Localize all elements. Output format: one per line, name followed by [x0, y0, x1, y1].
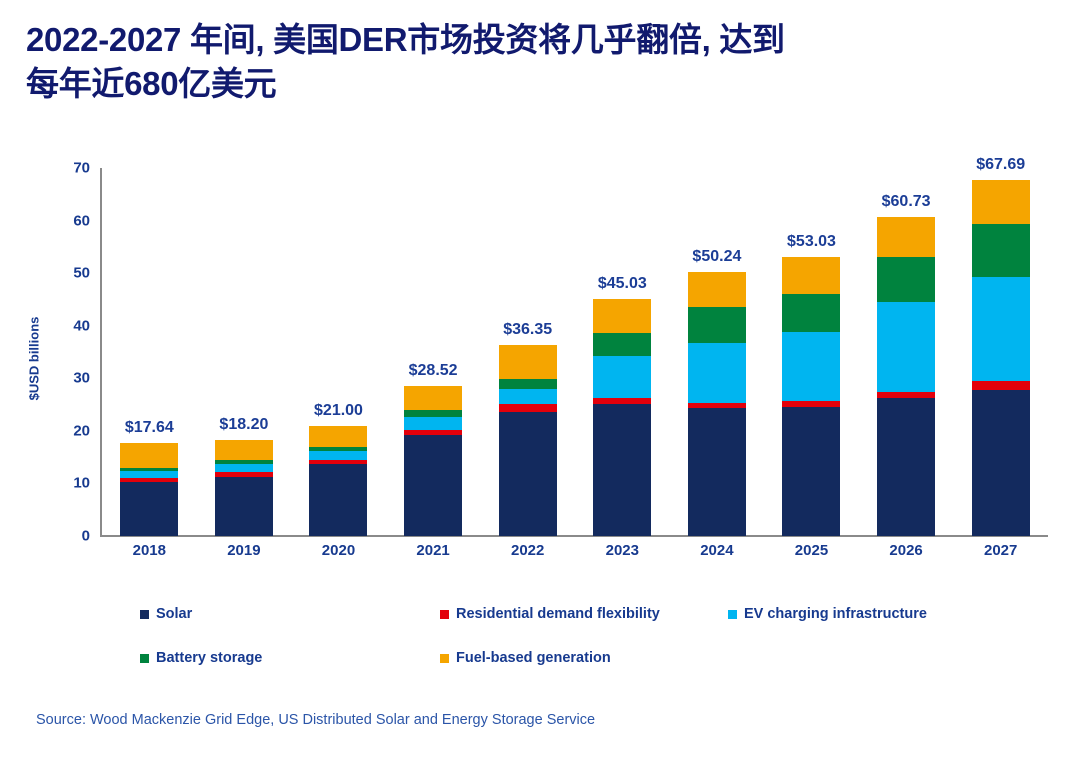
bar-2026[interactable]: [877, 217, 935, 536]
bar-group-2019[interactable]: $18.20: [197, 168, 292, 536]
bar-segment-2024-battery-storage[interactable]: [688, 307, 746, 343]
plot-area: $17.64$18.20$21.00$28.52$36.35$45.03$50.…: [102, 168, 1048, 536]
x-label-2026: 2026: [859, 542, 954, 559]
bar-segment-2022-fuel-based-generation[interactable]: [499, 345, 557, 379]
legend-label: Battery storage: [156, 650, 262, 666]
bar-segment-2020-solar[interactable]: [309, 464, 367, 536]
legend-row-2: Battery storageFuel-based generation: [140, 636, 1040, 680]
bar-segment-2024-ev-charging-infrastructure[interactable]: [688, 343, 746, 403]
bar-segment-2027-solar[interactable]: [972, 390, 1030, 536]
bar-segment-2023-fuel-based-generation[interactable]: [593, 299, 651, 333]
y-tick-50: 50: [44, 265, 90, 282]
bar-group-2022[interactable]: $36.35: [480, 168, 575, 536]
bar-segment-2026-battery-storage[interactable]: [877, 257, 935, 301]
stacked-bar-chart: $USD billions 010203040506070 $17.64$18.…: [0, 155, 1080, 555]
x-axis-labels: 2018201920202021202220232024202520262027: [102, 542, 1048, 568]
legend-item-battery-storage[interactable]: Battery storage: [140, 650, 262, 666]
bar-segment-2019-fuel-based-generation[interactable]: [215, 440, 273, 460]
bar-group-2020[interactable]: $21.00: [291, 168, 386, 536]
bar-total-label-2020: $21.00: [314, 402, 363, 420]
bar-group-2018[interactable]: $17.64: [102, 168, 197, 536]
bar-2022[interactable]: [499, 345, 557, 536]
bar-2023[interactable]: [593, 299, 651, 536]
legend-swatch-icon: [728, 610, 737, 619]
legend-swatch-icon: [140, 654, 149, 663]
bar-segment-2023-battery-storage[interactable]: [593, 333, 651, 356]
bar-segment-2021-fuel-based-generation[interactable]: [404, 386, 462, 410]
legend-item-solar[interactable]: Solar: [140, 606, 192, 622]
legend-item-ev-charging-infrastructure[interactable]: EV charging infrastructure: [728, 606, 927, 622]
bar-total-label-2019: $18.20: [219, 416, 268, 434]
bar-total-label-2027: $67.69: [976, 156, 1025, 174]
bar-segment-2019-ev-charging-infrastructure[interactable]: [215, 464, 273, 472]
bar-total-label-2024: $50.24: [692, 248, 741, 266]
y-axis-ticks: 010203040506070: [44, 155, 90, 555]
bar-2018[interactable]: [120, 443, 178, 536]
bar-segment-2022-solar[interactable]: [499, 412, 557, 536]
y-tick-40: 40: [44, 317, 90, 334]
bar-segment-2024-solar[interactable]: [688, 408, 746, 536]
bar-segment-2027-battery-storage[interactable]: [972, 224, 1030, 277]
y-axis-title: $USD billions: [27, 294, 42, 424]
bar-2021[interactable]: [404, 386, 462, 536]
legend-item-fuel-based-generation[interactable]: Fuel-based generation: [440, 650, 611, 666]
legend-label: Solar: [156, 606, 192, 622]
legend-swatch-icon: [440, 654, 449, 663]
legend-label: EV charging infrastructure: [744, 606, 927, 622]
bar-2019[interactable]: [215, 440, 273, 536]
bar-segment-2019-solar[interactable]: [215, 477, 273, 536]
bar-segment-2023-ev-charging-infrastructure[interactable]: [593, 356, 651, 398]
bar-2027[interactable]: [972, 180, 1030, 536]
bar-segment-2026-fuel-based-generation[interactable]: [877, 217, 935, 257]
bar-segment-2018-solar[interactable]: [120, 482, 178, 536]
bar-segment-2018-ev-charging-infrastructure[interactable]: [120, 471, 178, 478]
bar-segment-2027-ev-charging-infrastructure[interactable]: [972, 277, 1030, 382]
title-line-1: 2022-2027 年间, 美国DER市场投资将几乎翻倍, 达到: [26, 18, 1036, 62]
bar-segment-2025-battery-storage[interactable]: [782, 294, 840, 331]
bar-2025[interactable]: [782, 257, 840, 536]
bar-group-2027[interactable]: $67.69: [953, 168, 1048, 536]
legend-row-1: SolarResidential demand flexibilityEV ch…: [140, 592, 1040, 636]
bar-segment-2027-residential-demand-flexibility[interactable]: [972, 381, 1030, 390]
chart-legend: SolarResidential demand flexibilityEV ch…: [140, 592, 1040, 680]
page-title: 2022-2027 年间, 美国DER市场投资将几乎翻倍, 达到 每年近680亿…: [26, 18, 1036, 106]
bar-segment-2021-solar[interactable]: [404, 435, 462, 536]
y-tick-10: 10: [44, 475, 90, 492]
x-label-2018: 2018: [102, 542, 197, 559]
bar-segment-2020-fuel-based-generation[interactable]: [309, 426, 367, 447]
legend-label: Residential demand flexibility: [456, 606, 660, 622]
x-label-2020: 2020: [291, 542, 386, 559]
bar-segment-2025-ev-charging-infrastructure[interactable]: [782, 332, 840, 402]
title-line-2: 每年近680亿美元: [26, 62, 1036, 106]
bar-segment-2024-fuel-based-generation[interactable]: [688, 272, 746, 307]
bar-segment-2027-fuel-based-generation[interactable]: [972, 180, 1030, 224]
x-label-2019: 2019: [197, 542, 292, 559]
bar-segment-2023-solar[interactable]: [593, 404, 651, 536]
x-label-2023: 2023: [575, 542, 670, 559]
x-label-2025: 2025: [764, 542, 859, 559]
y-tick-60: 60: [44, 212, 90, 229]
x-label-2021: 2021: [386, 542, 481, 559]
y-tick-70: 70: [44, 160, 90, 177]
bar-total-label-2021: $28.52: [409, 362, 458, 380]
bar-total-label-2026: $60.73: [882, 193, 931, 211]
bar-total-label-2025: $53.03: [787, 233, 836, 251]
bar-total-label-2023: $45.03: [598, 275, 647, 293]
bar-total-label-2018: $17.64: [125, 419, 174, 437]
bar-segment-2022-residential-demand-flexibility[interactable]: [499, 404, 557, 412]
x-label-2027: 2027: [953, 542, 1048, 559]
legend-swatch-icon: [140, 610, 149, 619]
bar-group-2025[interactable]: $53.03: [764, 168, 859, 536]
bar-segment-2025-fuel-based-generation[interactable]: [782, 257, 840, 294]
legend-label: Fuel-based generation: [456, 650, 611, 666]
bar-segment-2022-ev-charging-infrastructure[interactable]: [499, 389, 557, 404]
legend-item-residential-demand-flexibility[interactable]: Residential demand flexibility: [440, 606, 660, 622]
legend-swatch-icon: [440, 610, 449, 619]
bar-total-label-2022: $36.35: [503, 321, 552, 339]
bar-2024[interactable]: [688, 272, 746, 536]
bar-group-2023[interactable]: $45.03: [575, 168, 670, 536]
y-tick-30: 30: [44, 370, 90, 387]
bar-2020[interactable]: [309, 426, 367, 536]
x-label-2024: 2024: [670, 542, 765, 559]
bar-group-2024[interactable]: $50.24: [670, 168, 765, 536]
bar-group-2021[interactable]: $28.52: [386, 168, 481, 536]
y-tick-0: 0: [44, 528, 90, 545]
bar-segment-2022-battery-storage[interactable]: [499, 379, 557, 389]
source-note: Source: Wood Mackenzie Grid Edge, US Dis…: [36, 712, 595, 728]
bar-segment-2021-ev-charging-infrastructure[interactable]: [404, 417, 462, 430]
bar-group-2026[interactable]: $60.73: [859, 168, 954, 536]
bar-segment-2026-ev-charging-infrastructure[interactable]: [877, 302, 935, 392]
bar-segment-2018-fuel-based-generation[interactable]: [120, 443, 178, 467]
bar-segment-2026-solar[interactable]: [877, 398, 935, 536]
bar-segment-2020-ev-charging-infrastructure[interactable]: [309, 451, 367, 459]
x-label-2022: 2022: [480, 542, 575, 559]
y-tick-20: 20: [44, 422, 90, 439]
bar-segment-2025-solar[interactable]: [782, 407, 840, 536]
